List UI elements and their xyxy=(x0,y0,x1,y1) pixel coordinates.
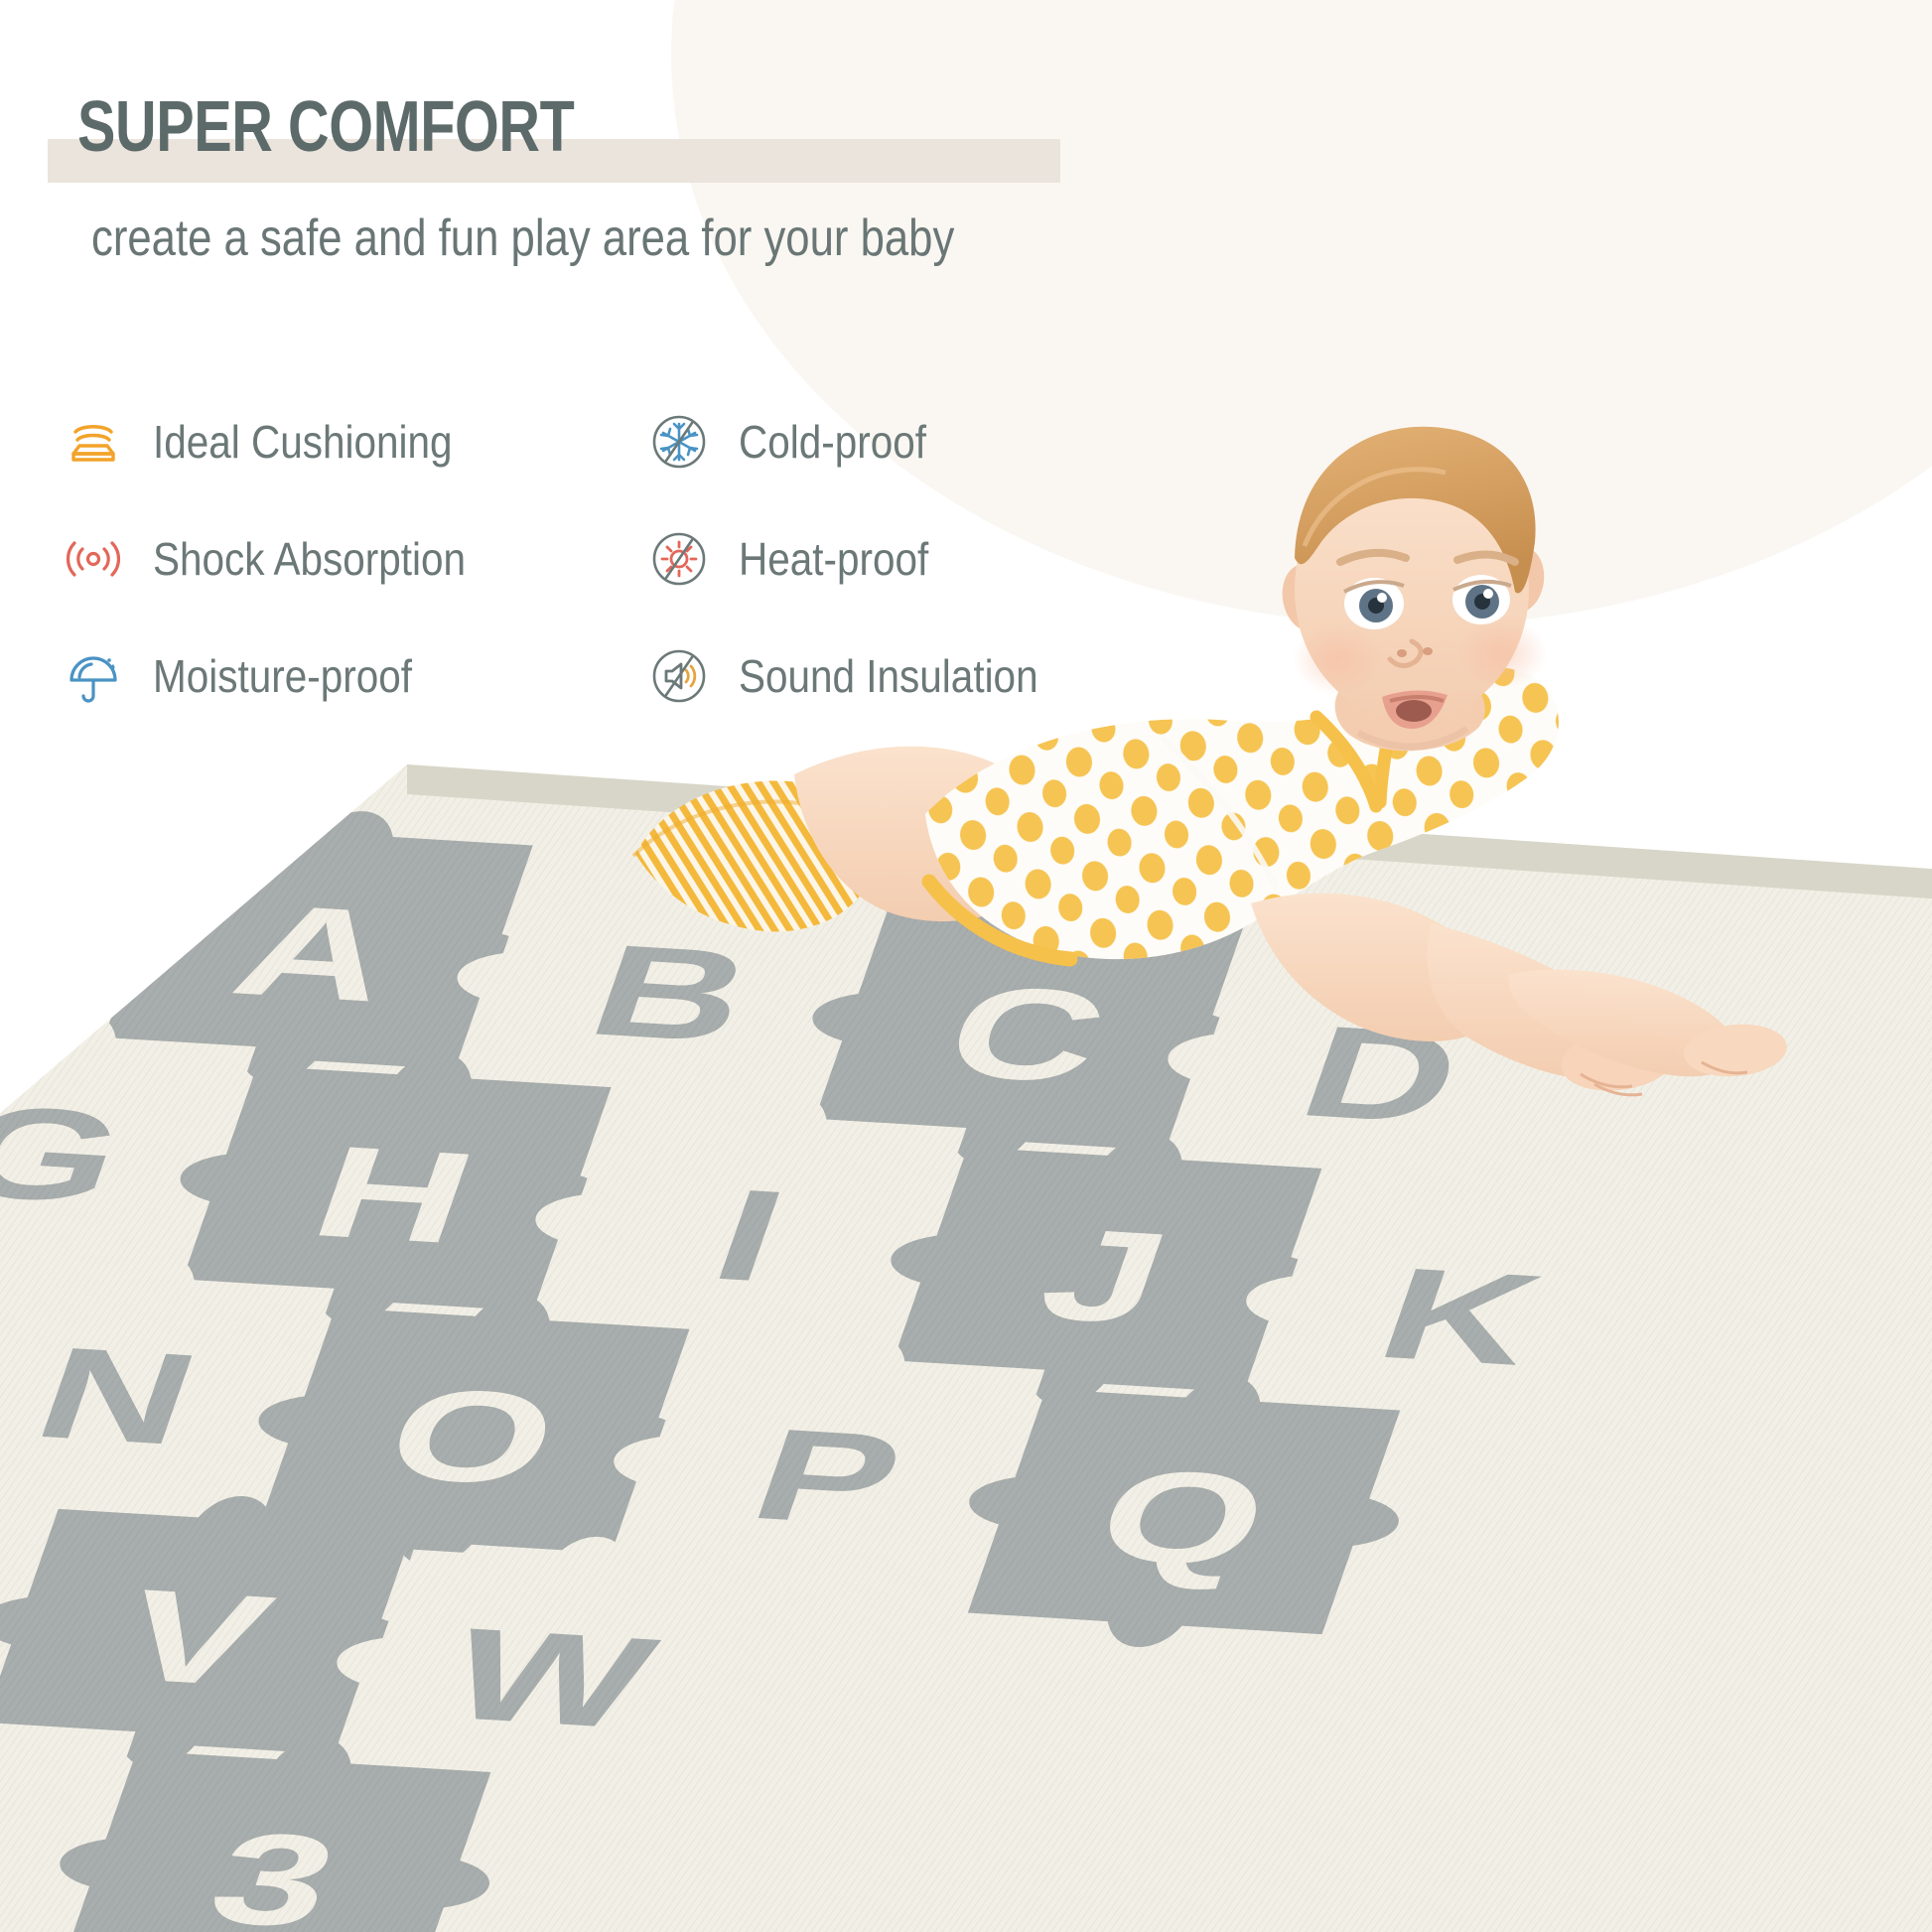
cushion-icon xyxy=(60,408,127,476)
product-marketing-image: A B C D G H xyxy=(0,0,1932,1932)
feature-label: Cold-proof xyxy=(739,415,926,469)
feature-label: Heat-proof xyxy=(739,532,928,586)
speaker-mute-icon xyxy=(645,642,713,710)
title-row: SUPER COMFORT xyxy=(77,91,699,163)
page-subtitle: create a safe and fun play area for your… xyxy=(91,208,954,268)
feature-item-sound-insulation: Sound Insulation xyxy=(645,618,1241,735)
sun-no-icon xyxy=(645,525,713,593)
feature-label: Sound Insulation xyxy=(739,649,1038,703)
feature-list: Ideal Cushioning Cold-pr xyxy=(60,383,1241,735)
umbrella-icon xyxy=(60,642,127,710)
feature-item-moisture-proof: Moisture-proof xyxy=(60,618,645,735)
page-title: SUPER COMFORT xyxy=(77,91,574,163)
signal-wave-icon xyxy=(60,525,127,593)
feature-item-ideal-cushioning: Ideal Cushioning xyxy=(60,383,645,500)
feature-item-shock-absorption: Shock Absorption xyxy=(60,500,645,618)
feature-label: Moisture-proof xyxy=(153,649,412,703)
feature-item-cold-proof: Cold-proof xyxy=(645,383,1241,500)
snowflake-no-icon xyxy=(645,408,713,476)
feature-label: Shock Absorption xyxy=(153,532,466,586)
headline-block: SUPER COMFORT create a safe and fun play… xyxy=(77,91,1119,268)
feature-item-heat-proof: Heat-proof xyxy=(645,500,1241,618)
feature-label: Ideal Cushioning xyxy=(153,415,453,469)
